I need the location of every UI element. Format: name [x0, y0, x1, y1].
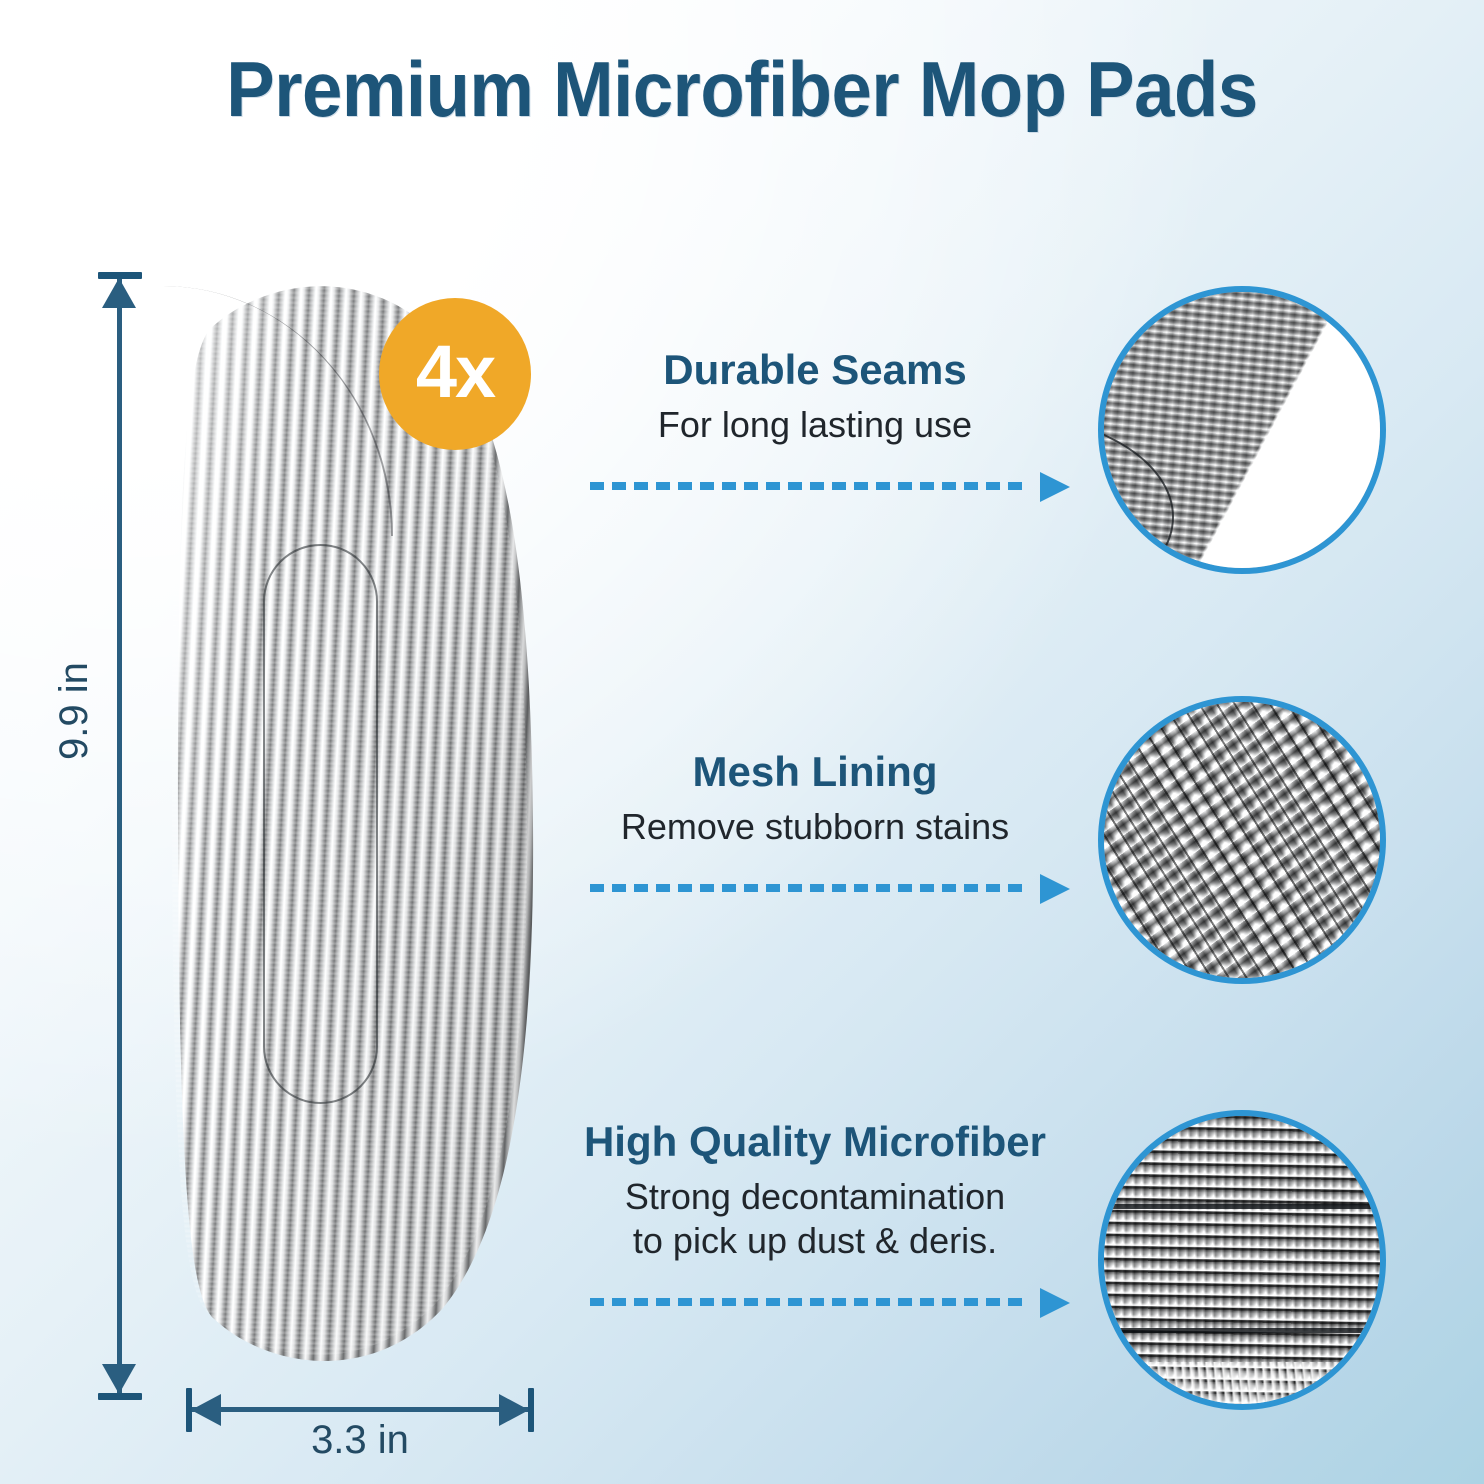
- dimension-arrowhead-down: [102, 1364, 136, 1394]
- arrow-right-icon: [1040, 1288, 1070, 1318]
- feature-subtitle-line1: Remove stubborn stains: [621, 806, 1009, 847]
- mesh-closeup-image: [1104, 702, 1380, 978]
- detail-inset-seam-closeup: [1098, 286, 1386, 574]
- feature-subtitle: For long lasting use: [560, 403, 1070, 447]
- page-title: Premium Microfiber Mop Pads: [52, 44, 1432, 135]
- infographic-canvas: Premium Microfiber Mop Pads 9.9 in 4x 3.…: [0, 0, 1484, 1484]
- feature-arrow: [560, 473, 1070, 499]
- dashed-line-icon: [590, 1298, 1022, 1306]
- detail-inset-mesh-closeup: [1098, 696, 1386, 984]
- feature-arrow: [560, 1289, 1070, 1315]
- feature-subtitle: Strong decontamination to pick up dust &…: [560, 1175, 1070, 1263]
- feature-subtitle-line2: to pick up dust & deris.: [560, 1219, 1070, 1263]
- feature-title: Durable Seams: [560, 346, 1070, 393]
- feature-subtitle: Remove stubborn stains: [560, 805, 1070, 849]
- dashed-line-icon: [590, 884, 1022, 892]
- feature-subtitle-line1: Strong decontamination: [625, 1176, 1005, 1217]
- arrow-right-icon: [1040, 472, 1070, 502]
- dimension-shaft-horizontal: [192, 1407, 528, 1412]
- arrow-right-icon: [1040, 874, 1070, 904]
- feature-title: High Quality Microfiber: [560, 1118, 1070, 1165]
- dimension-shaft-vertical: [117, 279, 122, 1393]
- width-dimension-label: 3.3 in: [186, 1418, 534, 1463]
- microfiber-seam-band-upper: [1104, 1204, 1380, 1209]
- dashed-line-icon: [590, 482, 1022, 490]
- feature-block-durable-seams: Durable Seams For long lasting use: [560, 346, 1070, 499]
- dimension-cap-bottom: [98, 1393, 142, 1400]
- feature-block-high-quality-microfiber: High Quality Microfiber Strong decontami…: [560, 1118, 1070, 1315]
- microfiber-seam-band-lower: [1104, 1328, 1380, 1333]
- feature-title: Mesh Lining: [560, 748, 1070, 795]
- detail-inset-microfiber-closeup: [1098, 1110, 1386, 1410]
- microfiber-fringe-edge: [1104, 1362, 1380, 1404]
- height-dimension-label: 9.9 in: [52, 662, 97, 760]
- dimension-arrowhead-up: [102, 278, 136, 308]
- microfiber-closeup-image: [1104, 1116, 1380, 1404]
- quantity-badge: 4x: [379, 298, 531, 450]
- feature-arrow: [560, 875, 1070, 901]
- height-dimension-line: [96, 272, 144, 1400]
- feature-subtitle-line1: For long lasting use: [658, 404, 972, 445]
- feature-block-mesh-lining: Mesh Lining Remove stubborn stains: [560, 748, 1070, 901]
